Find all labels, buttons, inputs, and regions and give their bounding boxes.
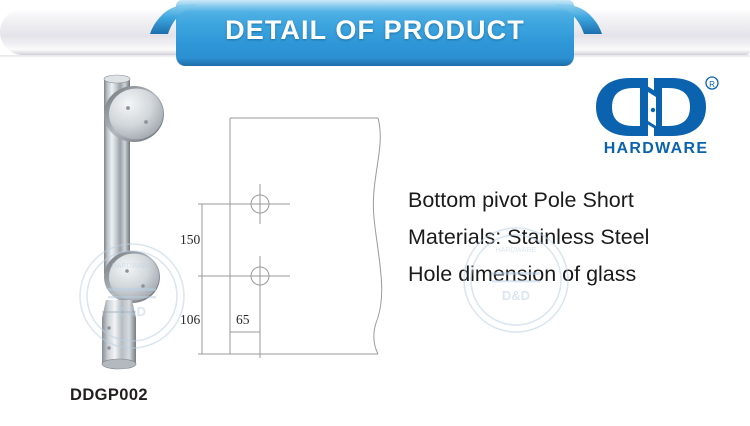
- brand-wordmark: HARDWARE: [586, 140, 726, 158]
- dimension-106: 106: [180, 312, 201, 327]
- page-banner: DETAIL OF PRODUCT: [0, 0, 750, 72]
- registered-mark: R: [706, 77, 718, 89]
- banner-title: DETAIL OF PRODUCT: [176, 0, 574, 60]
- spec-line-1: Bottom pivot Pole Short: [408, 182, 738, 219]
- svg-text:R: R: [709, 80, 715, 89]
- product-photo: [78, 72, 196, 372]
- dimension-150: 150: [180, 232, 201, 247]
- product-code: DDGP002: [70, 386, 240, 405]
- dimension-65: 65: [236, 312, 250, 327]
- spec-line-3: Hole dimension of glass: [408, 256, 738, 293]
- spec-line-2: Materials: Stainless Steel: [408, 219, 738, 256]
- spec-list: Bottom pivot Pole Short Materials: Stain…: [408, 182, 738, 293]
- brand-logo: R: [588, 74, 720, 140]
- technical-drawing: 150 106 65: [180, 108, 395, 373]
